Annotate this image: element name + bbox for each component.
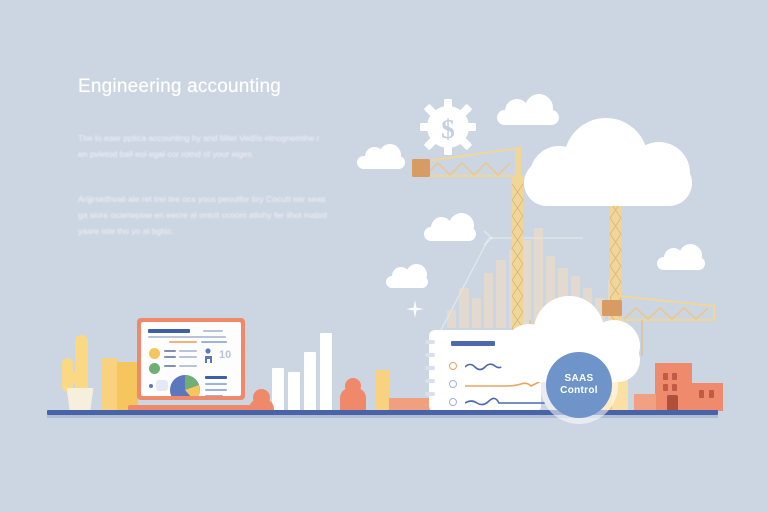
sparkle-icon <box>406 300 424 323</box>
yellow-panel-left-2 <box>101 358 117 411</box>
laptop-screen: 10 <box>141 322 241 396</box>
building-short <box>692 383 723 411</box>
report-card-rings <box>425 340 435 405</box>
laptop-dashboard[interactable]: 10 <box>137 318 245 412</box>
yellow-panel-mid <box>376 370 389 411</box>
row-bullet-icon <box>449 398 457 406</box>
white-bar-chart <box>272 330 332 410</box>
row-bullet-icon <box>449 380 457 388</box>
text-block: Engineering accounting The lo eaer pptic… <box>78 76 328 239</box>
report-row <box>449 396 535 410</box>
ground-shadow <box>47 415 718 418</box>
kpi-dot-yellow <box>149 348 160 359</box>
stat-number: 10 <box>219 349 231 361</box>
person-right-body <box>340 388 366 411</box>
row-bullet-icon <box>449 362 457 370</box>
illustration-canvas: $ <box>0 0 768 512</box>
dollar-symbol: $ <box>441 114 455 144</box>
laptop-frame: 10 <box>137 318 245 400</box>
yellow-panel-right-2 <box>612 378 628 411</box>
badge-line-2: Control <box>560 385 598 398</box>
cactus-pot <box>64 388 96 411</box>
ground-line <box>47 410 718 415</box>
building-tall <box>655 363 692 411</box>
building-side <box>634 394 656 411</box>
cactus-arm-join <box>62 372 84 383</box>
badge-line-1: SAAS <box>565 373 594 386</box>
saas-control-badge[interactable]: SAAS Control <box>546 352 612 418</box>
kpi-dot-green <box>149 363 160 374</box>
body-paragraph-2: Arijjrseithvali ale ret trel tlre ocs yo… <box>78 192 328 239</box>
report-card-title-bar <box>451 341 495 346</box>
sparkline-3 <box>465 396 545 408</box>
laptop-pie-chart <box>169 374 201 396</box>
body-paragraph-1: The lo eaer pptica accounting hy and lil… <box>78 131 328 162</box>
gear-dollar-icon: $ <box>419 98 477 156</box>
stat-icon <box>203 348 217 364</box>
yellow-panel-left <box>116 362 138 411</box>
page-title: Engineering accounting <box>78 76 328 99</box>
